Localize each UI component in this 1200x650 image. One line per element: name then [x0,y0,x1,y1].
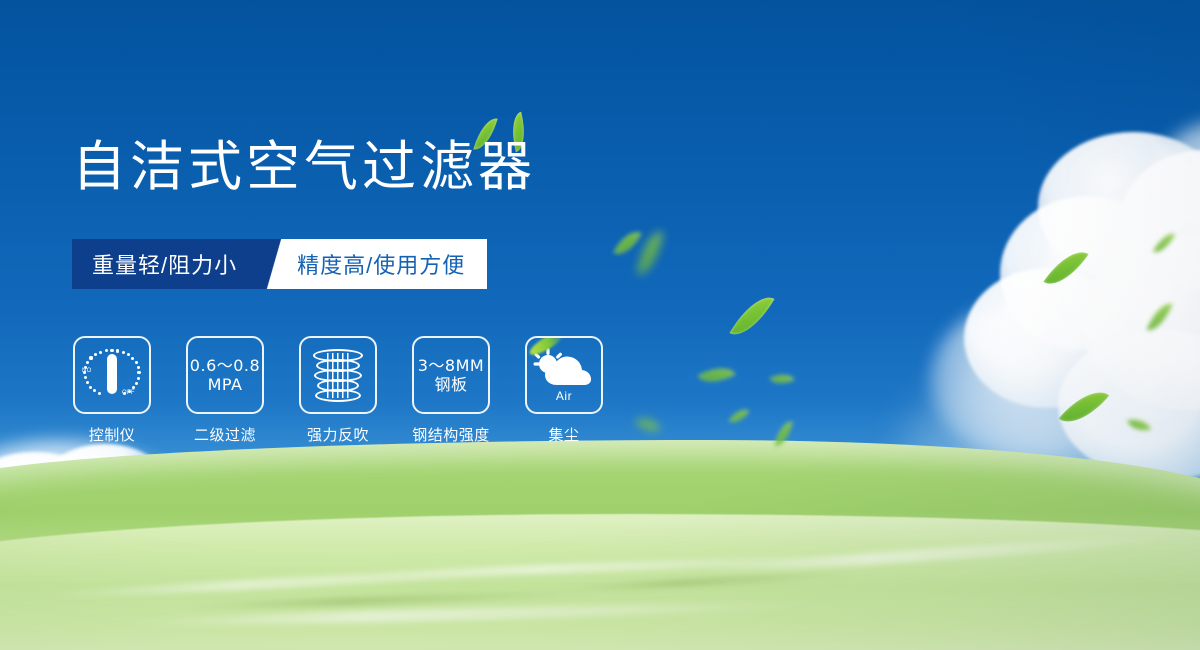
dial-label-no: NO [82,368,92,374]
feature-caption: 钢结构强度 [412,424,490,445]
dial-pointer-icon [107,354,117,394]
page-title: 自洁式空气过滤器 [72,140,536,194]
feature-icon-box [299,336,377,414]
feature-item-dust-collection[interactable]: Air 集尘 [524,336,604,445]
product-banner: 自洁式空气过滤器 重量轻/阻力小 精度高/使用方便 [0,0,1200,650]
feature-icon-box: NO OFF [73,336,151,414]
steel-plate-text-icon-line2: 钢板 [434,375,467,394]
grass-field-near [0,514,1200,650]
tagline-divider [263,239,289,289]
pressure-text-icon-line1: 0.6～0.8 [190,356,260,375]
feature-icon-box: 3～8MM 钢板 [412,336,490,414]
tagline-right: 精度高/使用方便 [289,239,487,289]
feature-icon-box: Air [525,336,603,414]
blowback-discs-icon [311,347,365,403]
feature-item-control-dial[interactable]: NO OFF 控制仪 [72,336,152,445]
air-label: Air [533,389,595,403]
tagline-bar: 重量轻/阻力小 精度高/使用方便 [72,239,487,289]
feature-icon-box: 0.6～0.8 MPA [186,336,264,414]
feature-item-steel-strength[interactable]: 3～8MM 钢板 钢结构强度 [411,336,491,445]
feature-caption: 控制仪 [89,424,136,445]
feature-caption: 二级过滤 [194,424,256,445]
control-dial-icon: NO OFF [82,346,142,404]
feature-list: NO OFF 控制仪 0.6～0.8 MPA 二级过滤 [72,336,604,445]
cloud-sun-shape [533,347,595,389]
cloud-air-icon: Air [533,347,595,403]
dial-label-off: OFF [122,390,135,396]
feature-caption: 集尘 [548,424,579,445]
feature-item-blowback[interactable]: 强力反吹 [298,336,378,445]
tagline-left: 重量轻/阻力小 [72,239,263,289]
pressure-text-icon-line2: MPA [208,375,243,394]
feature-item-secondary-filter[interactable]: 0.6～0.8 MPA 二级过滤 [185,336,265,445]
steel-plate-text-icon-line1: 3～8MM [418,356,484,375]
feature-caption: 强力反吹 [307,424,369,445]
